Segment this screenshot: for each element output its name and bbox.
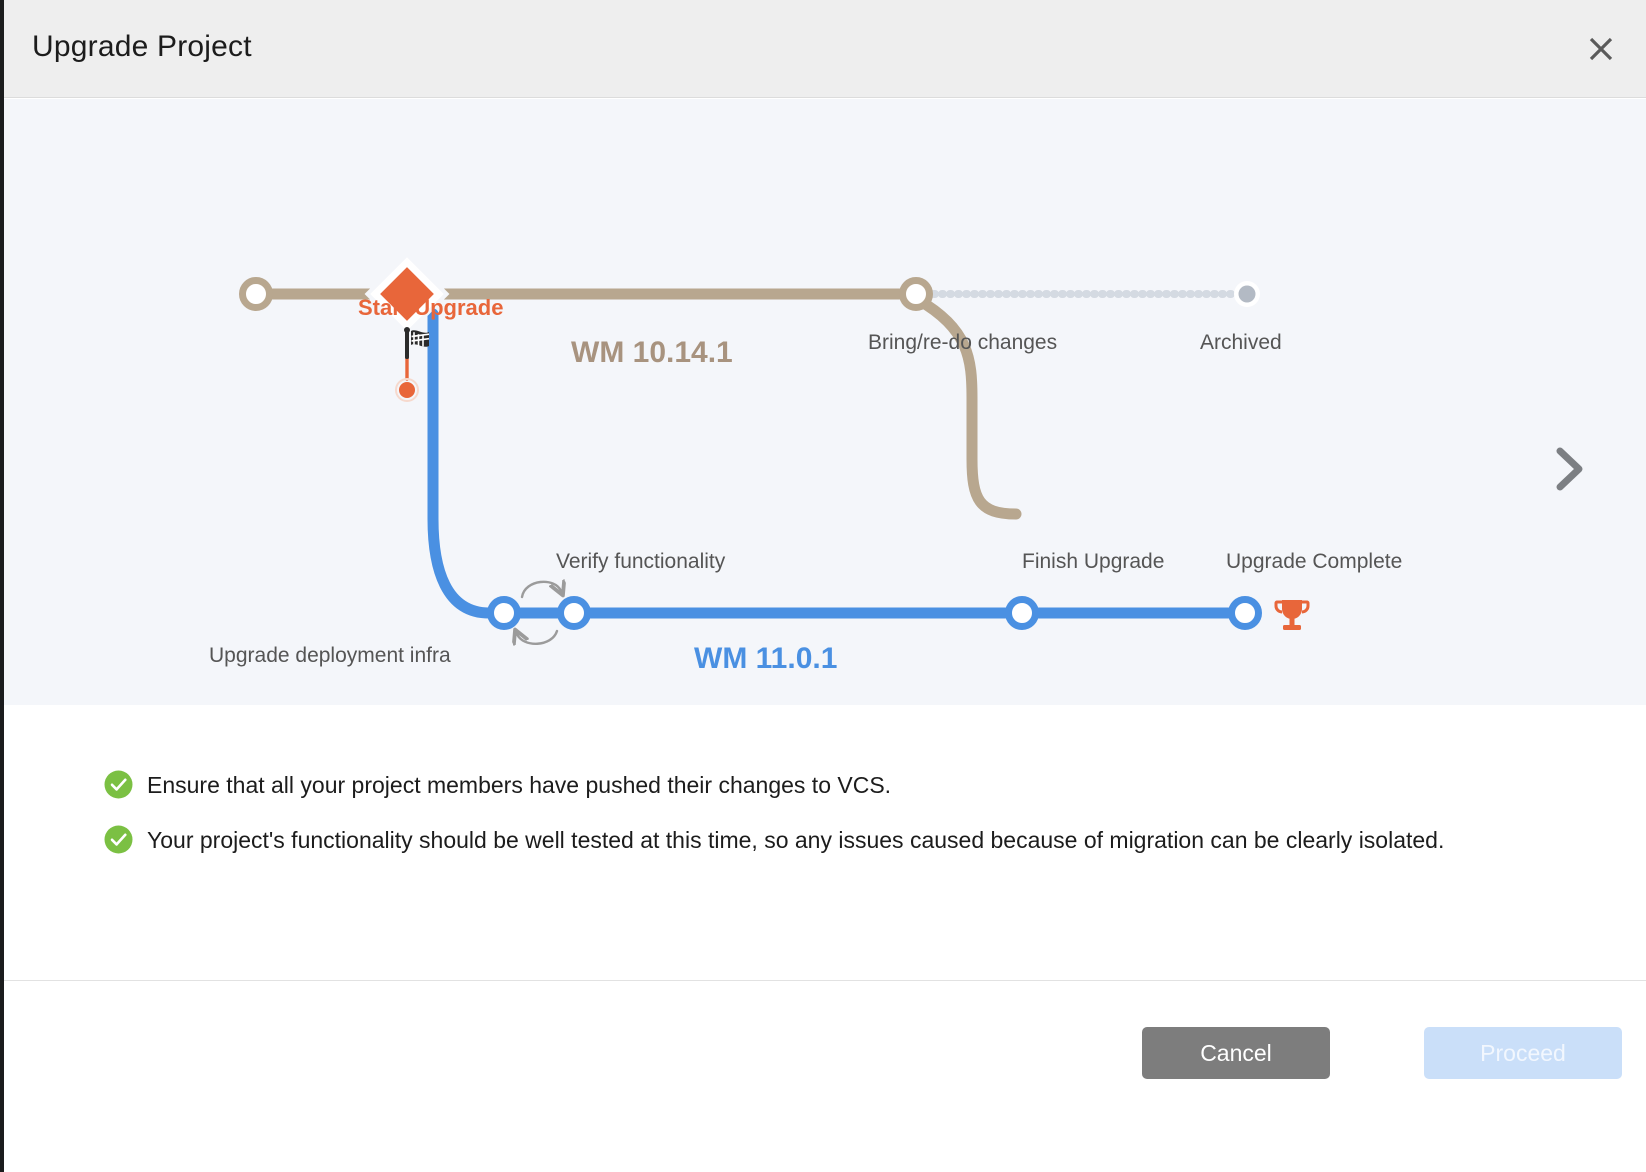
check-circle-icon: [104, 825, 133, 854]
node-label-upgrade-complete: Upgrade Complete: [1226, 550, 1402, 574]
prerequisite-checklist: Ensure that all your project members hav…: [4, 705, 1646, 981]
checklist-item: Your project's functionality should be w…: [104, 822, 1464, 858]
dialog-footer: Cancel Proceed: [4, 982, 1646, 1168]
version-label-new: WM 11.0.1: [694, 642, 837, 676]
check-circle-icon: [104, 770, 133, 799]
close-icon[interactable]: [1578, 26, 1624, 72]
checklist-item: Ensure that all your project members hav…: [104, 767, 1404, 803]
node-label-archived: Archived: [1200, 331, 1282, 355]
proceed-button[interactable]: Proceed: [1424, 1027, 1622, 1079]
version-label-old: WM 10.14.1: [571, 336, 733, 370]
dialog-header: Upgrade Project: [4, 0, 1646, 98]
node-label-verify-functionality: Verify functionality: [556, 550, 725, 574]
upgrade-path-diagram: Start Upgrade WM 10.14.1 Bring/re-do cha…: [4, 99, 1646, 705]
checkered-flag-icon: [403, 327, 439, 361]
chevron-right-icon[interactable]: [1544, 443, 1596, 495]
node-label-bring-redo-changes: Bring/re-do changes: [868, 331, 1057, 355]
trophy-icon: [1272, 595, 1312, 635]
upgrade-path-graphic: [4, 99, 1646, 705]
checklist-item-text: Ensure that all your project members hav…: [147, 767, 891, 803]
checklist-item-text: Your project's functionality should be w…: [147, 822, 1444, 858]
upgrade-project-dialog: Upgrade Project: [0, 0, 1646, 1172]
node-label-upgrade-deployment-infra: Upgrade deployment infra: [209, 644, 451, 668]
page-title: Upgrade Project: [32, 30, 252, 64]
node-label-start-upgrade: Start Upgrade: [358, 295, 503, 321]
cancel-button[interactable]: Cancel: [1142, 1027, 1330, 1079]
node-label-finish-upgrade: Finish Upgrade: [1022, 550, 1164, 574]
